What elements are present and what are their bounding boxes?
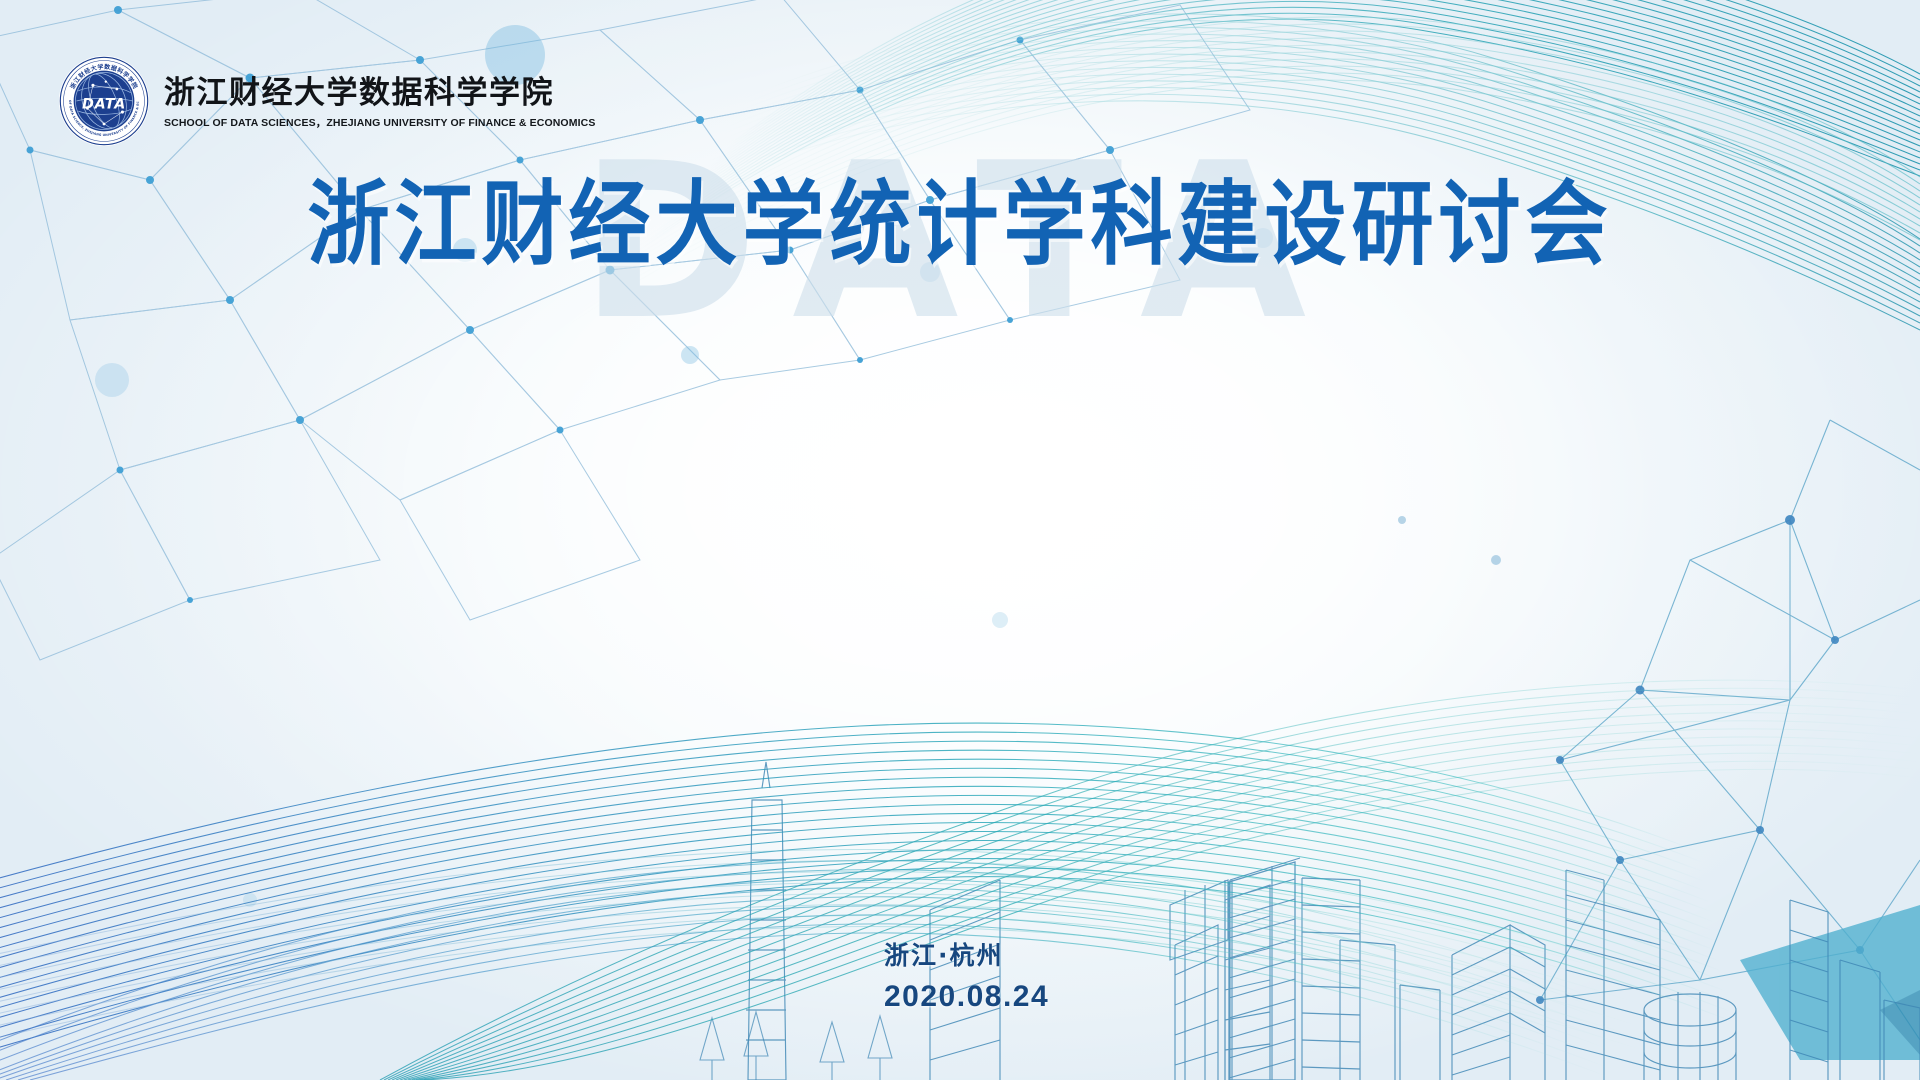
svg-text:DATA: DATA	[82, 96, 126, 112]
bottom-ribbon-waves	[0, 0, 1920, 1080]
conference-banner: DATA 浙江财经大学统计学科建设研讨会	[0, 0, 1920, 1080]
school-name-en: SCHOOL OF DATA SCIENCES，ZHEJIANG UNIVERS…	[164, 115, 595, 130]
school-name-block: 浙江财经大学数据科学学院 SCHOOL OF DATA SCIENCES，ZHE…	[164, 72, 595, 131]
title-block: DATA 浙江财经大学统计学科建设研讨会	[0, 172, 1920, 269]
school-logo: DATA 浙江财经大学数据科学学院 SCHOOL OF DATA SCIENCE…	[58, 55, 150, 147]
school-identity-header: DATA 浙江财经大学数据科学学院 SCHOOL OF DATA SCIENCE…	[58, 55, 595, 147]
school-name-cn: 浙江财经大学数据科学学院	[164, 76, 595, 111]
data-globe-emblem-logo: DATA 浙江财经大学数据科学学院 SCHOOL OF DATA SCIENCE…	[58, 55, 150, 147]
event-venue: 浙江·杭州	[884, 940, 1049, 971]
page-title: 浙江财经大学统计学科建设研讨会	[307, 172, 1612, 280]
event-date: 2020.08.24	[884, 980, 1049, 1014]
event-info-footer: 浙江·杭州 2020.08.24	[884, 940, 1049, 1014]
